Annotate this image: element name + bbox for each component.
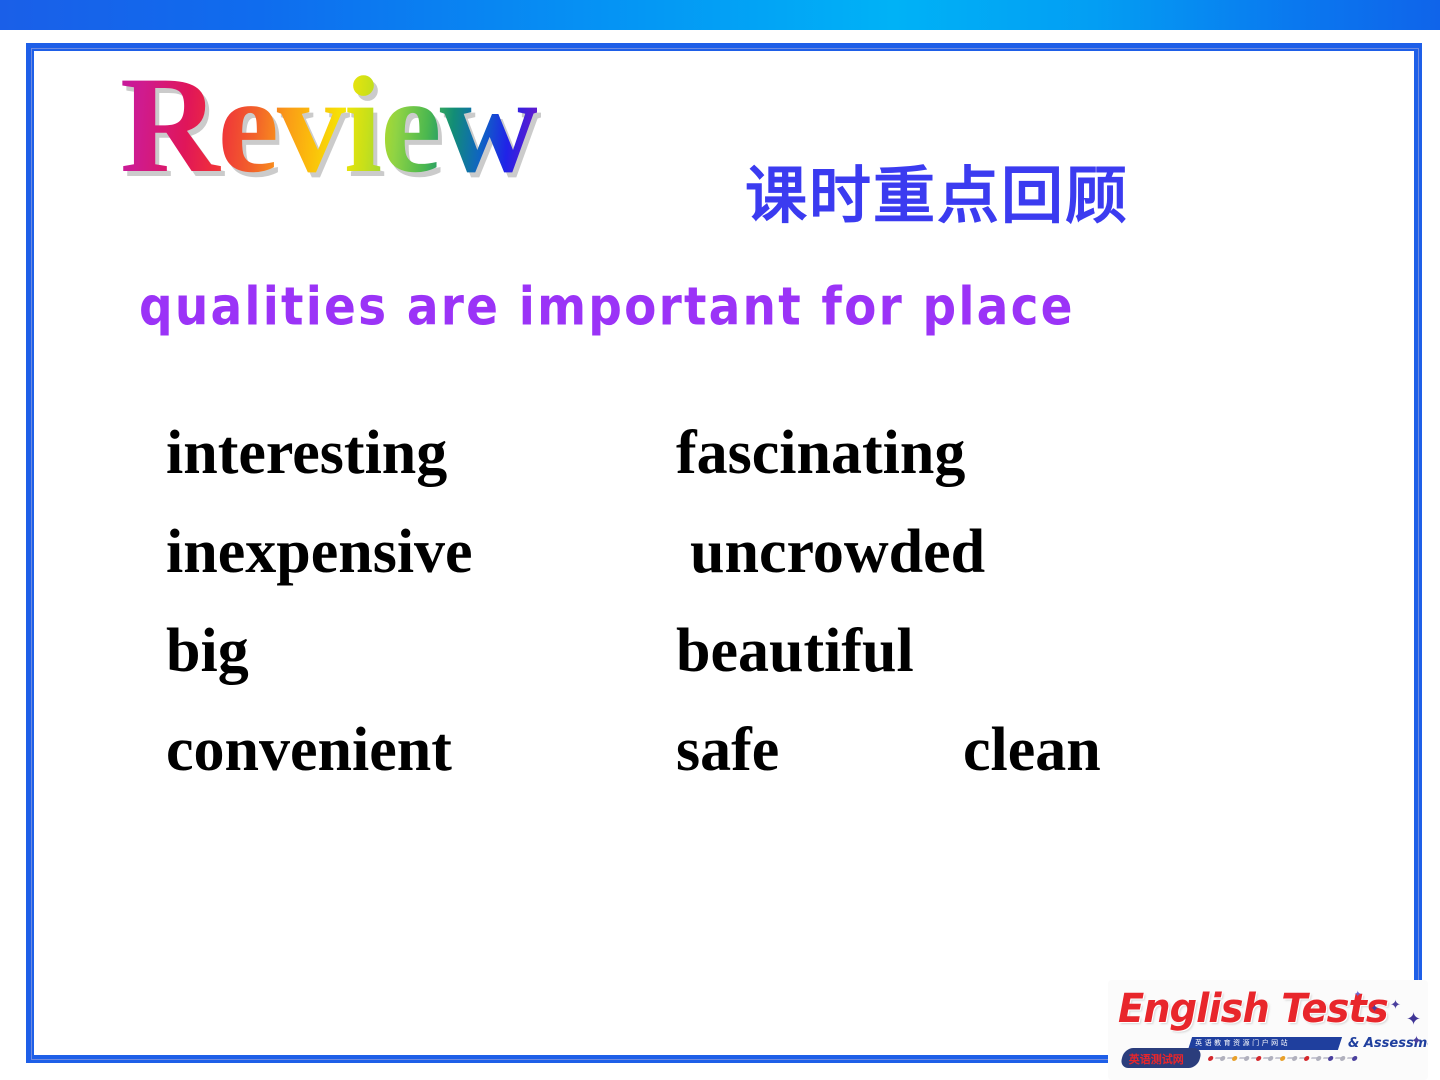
page-title-wordart: Review xyxy=(120,56,537,194)
word-uncrowded: uncrowded xyxy=(690,517,985,588)
word-inexpensive: inexpensive xyxy=(166,517,473,588)
word-big: big xyxy=(166,616,249,687)
top-gradient-bar xyxy=(0,0,1440,30)
logo-dot xyxy=(1255,1056,1262,1061)
logo-dot xyxy=(1243,1056,1250,1061)
word-clean: clean xyxy=(963,715,1101,786)
word-safe: safe xyxy=(676,715,779,786)
word-convenient: convenient xyxy=(166,715,452,786)
logo-dot xyxy=(1339,1056,1346,1061)
logo-dot xyxy=(1315,1056,1322,1061)
list-item: inexpensive uncrowded xyxy=(166,517,1216,616)
list-item: interesting fascinating xyxy=(166,418,1216,517)
logo-dot xyxy=(1267,1056,1274,1061)
logo-dot xyxy=(1291,1056,1298,1061)
star-icon: ✦ xyxy=(1390,998,1401,1011)
chinese-subtitle: 课时重点回顾 xyxy=(745,165,1129,227)
word-fascinating: fascinating xyxy=(676,418,965,489)
logo-dot xyxy=(1303,1056,1310,1061)
list-item: big beautiful xyxy=(166,616,1216,715)
star-icon: ✦ xyxy=(1354,990,1362,999)
slide-header: Review 课时重点回顾 xyxy=(0,60,1396,200)
logo-dot xyxy=(1231,1056,1238,1061)
logo-badge-text: 英语测试网 xyxy=(1129,1051,1184,1067)
logo-dot-row xyxy=(1206,1052,1371,1066)
logo-badge: 英语测试网 xyxy=(1120,1048,1203,1068)
logo-blue-bar: 英语教育资源门户网站 xyxy=(1188,1037,1342,1050)
slide-canvas: Review 课时重点回顾 qualities are important fo… xyxy=(0,0,1440,1080)
logo-dot xyxy=(1351,1056,1358,1061)
logo-dot xyxy=(1327,1056,1334,1061)
star-icon: ✦ xyxy=(1370,1004,1379,1015)
vocabulary-list: interesting fascinating inexpensive uncr… xyxy=(166,418,1216,814)
logo-bar-text: 英语教育资源门户网站 xyxy=(1195,1038,1290,1048)
list-item: convenient safe clean xyxy=(166,715,1216,814)
logo-dot xyxy=(1279,1056,1286,1061)
prompt-subtitle: qualities are important for place xyxy=(139,281,1075,334)
word-interesting: interesting xyxy=(166,418,447,489)
english-tests-logo: English Tests 英语教育资源门户网站 & Assessments 英… xyxy=(1108,980,1428,1080)
logo-brand-text: English Tests xyxy=(1118,986,1388,1032)
logo-dot xyxy=(1219,1056,1226,1061)
logo-dot xyxy=(1207,1056,1214,1061)
star-icon: ✦ xyxy=(1406,1010,1421,1028)
word-beautiful: beautiful xyxy=(676,616,914,687)
star-icon: ✦ xyxy=(1411,1034,1422,1047)
